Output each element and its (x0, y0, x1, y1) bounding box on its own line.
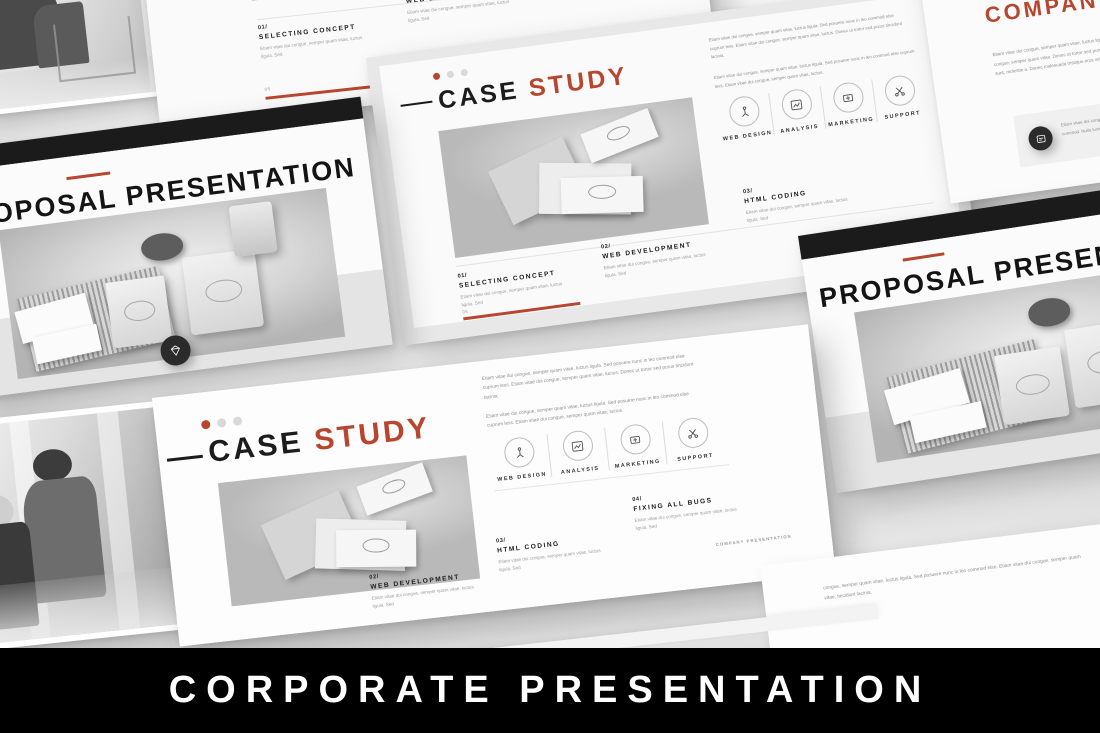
title-rule (400, 101, 432, 107)
mockup-stage: 01/ SELECTING CONCEPT Etiam vitae dui co… (0, 0, 1100, 733)
dot-active (201, 420, 211, 430)
testimonial-box: Etiam vitae dui congue, semper quam vita… (1013, 84, 1100, 168)
step-01: 01/ SELECTING CONCEPT Etiam vitae dui co… (457, 260, 569, 310)
testimonial-text: Etiam vitae dui congue, semper quam vita… (1060, 98, 1100, 139)
title-primary: CASE (207, 426, 305, 469)
dot (217, 418, 227, 428)
service-label: SUPPORT (677, 453, 714, 463)
compass-icon (728, 95, 762, 129)
slide-dots (201, 416, 243, 430)
quote-badge-icon (1027, 125, 1054, 152)
service-item-marketing[interactable]: MARKETING (820, 79, 877, 128)
service-item-web-design[interactable]: WEB DESIGN (489, 434, 551, 483)
step-01: 01/ SELECTING CONCEPT Etiam vitae dui co… (258, 13, 371, 61)
dot (446, 71, 454, 79)
service-label: WEB DESIGN (723, 130, 773, 143)
megaphone-icon (619, 423, 652, 456)
dot-active (433, 72, 441, 80)
service-item-analysis[interactable]: ANALYSIS (768, 86, 825, 135)
service-item-web-design[interactable]: WEB DESIGN (717, 93, 774, 142)
service-label: MARKETING (828, 116, 875, 128)
heading-line-2: COMPANY (983, 0, 1100, 29)
partial-paragraph: congue, semper quam vitae, luctus ligula… (823, 552, 1093, 604)
service-label: MARKETING (615, 459, 662, 470)
service-item-marketing[interactable]: MARKETING (604, 421, 666, 470)
title-rule (167, 455, 203, 462)
title-accent: STUDY (527, 62, 630, 103)
step-04: 04/ FIXING ALL BUGS Etiam vitae dui cong… (632, 485, 747, 533)
page-number: 05 (264, 86, 270, 92)
service-item-support[interactable]: SUPPORT (662, 415, 724, 464)
megaphone-icon (831, 81, 865, 115)
image-chart-icon (561, 429, 594, 462)
step-02: 02/ WEB DEVELOPMENT Etiam vitae dui cong… (405, 0, 520, 25)
service-item-support[interactable]: SUPPORT (871, 72, 928, 121)
compass-icon (503, 436, 536, 469)
bottom-banner: CORPORATE PRESENTATION (0, 648, 1100, 733)
service-label: ANALYSIS (561, 466, 600, 476)
banner-title: CORPORATE PRESENTATION (169, 669, 932, 712)
service-label: WEB DESIGN (497, 471, 547, 483)
image-chart-icon (780, 88, 814, 122)
service-item-analysis[interactable]: ANALYSIS (546, 428, 608, 477)
step-03: 03/ HTML CODING Etiam vitae dui congue, … (743, 175, 855, 225)
product-boxes-photo (438, 97, 709, 258)
step-body: Etiam vitae dui congue, semper quam vita… (407, 0, 520, 25)
service-label: ANALYSIS (780, 124, 819, 135)
step-03: 03/ HTML CODING Etiam vitae dui congue, … (496, 526, 611, 574)
scissors-icon (883, 74, 917, 108)
service-label: SUPPORT (884, 110, 921, 121)
title-primary: CASE (436, 76, 520, 115)
dot (233, 416, 243, 426)
slide-sheet-bottom-middle: CASE STUDY Etiam vitae dui congue, sempe… (152, 324, 836, 646)
slide-case-study-bottom: CASE STUDY Etiam vitae dui congue, sempe… (152, 324, 836, 646)
slide-dots (433, 69, 469, 81)
company-paragraph: Etiam vitae dui congue, semper quam vita… (992, 18, 1100, 79)
dot (460, 69, 468, 77)
page-number: 05 (462, 309, 469, 315)
scissors-icon (676, 416, 709, 449)
title-accent: STUDY (313, 411, 433, 457)
slide-proposal-presentation: PROPOSAL PRESENTATION (0, 97, 393, 400)
slide-footer: COMPANY PRESENTATION (716, 534, 792, 547)
step-02: 02/ WEB DEVELOPMENT Etiam vitae dui cong… (601, 230, 713, 280)
